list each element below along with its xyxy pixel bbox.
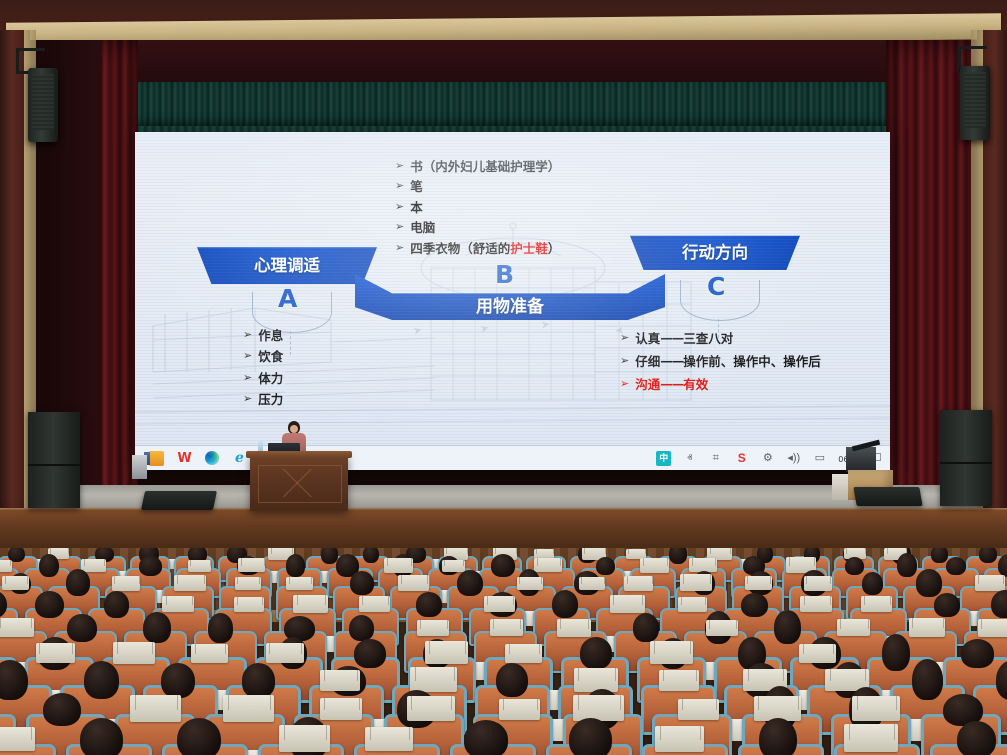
audience-member-head — [912, 659, 943, 700]
audience-member-head — [363, 548, 379, 563]
audience-member-head — [759, 718, 797, 755]
microsoft-edge-icon[interactable] — [205, 451, 219, 465]
list-item-value: 有效 — [683, 374, 708, 393]
nurse-cap — [978, 619, 1007, 637]
nurse-cap — [844, 724, 898, 752]
bullet-arrow-icon: ➢ — [243, 349, 252, 362]
auditorium-seating — [0, 548, 1007, 755]
list-item: ➢ 仔细——操作前、操作中、操作后 — [620, 351, 821, 370]
audience-member-head — [39, 554, 59, 577]
taskbar-pinned-apps: W e — [135, 451, 247, 466]
bullet-arrow-icon: ➢ — [395, 241, 404, 254]
presentation-slide: ➤ ➤ ➤ ➤ ➤ ➤ ➤ ➢ 书（内外妇儿基础护理学） ➢ 笔 ➢ 本 — [135, 132, 890, 470]
list-item: ➢ 体力 — [243, 368, 283, 387]
list-item-label: 饮食 — [258, 346, 283, 365]
nurse-cap — [384, 558, 413, 573]
audience-member-head — [774, 610, 801, 644]
list-item-label: 体力 — [258, 368, 283, 387]
list-item: ➢ 压力 — [243, 389, 283, 408]
audience-member-head — [66, 569, 90, 596]
audience-member-head — [208, 613, 233, 643]
speaker-stack-right — [940, 410, 992, 506]
nurse-cap — [81, 559, 105, 572]
nurse-cap — [800, 596, 832, 612]
section-letter-b: B — [495, 260, 514, 289]
list-item: ➢ 四季衣物（舒适的护士鞋） — [395, 238, 560, 257]
audience-member-head — [350, 571, 375, 595]
bullet-arrow-icon: ➢ — [620, 377, 629, 390]
section-stem-a — [290, 331, 291, 355]
nurse-cap — [293, 595, 328, 613]
nurse-cap — [804, 576, 833, 591]
audience-member-head — [416, 592, 442, 617]
nurse-cap — [286, 577, 313, 591]
bullet-arrow-icon: ➢ — [395, 220, 404, 233]
audience-member-head — [67, 614, 97, 642]
audience-member-head — [496, 663, 528, 697]
nurse-cap — [359, 596, 390, 612]
file-explorer-icon[interactable] — [149, 451, 164, 466]
audience-member-head — [491, 554, 515, 577]
list-item-label: 本 — [410, 197, 423, 216]
list-item: ➢ 电脑 — [395, 217, 560, 236]
network-icon[interactable]: ⌗ — [708, 451, 723, 466]
nurse-cap — [113, 642, 155, 664]
audience-member-head — [84, 661, 119, 699]
nurse-cap — [162, 596, 193, 612]
nurse-cap — [799, 644, 836, 663]
nurse-cap — [112, 576, 141, 591]
nurse-cap — [442, 560, 465, 572]
wps-office-icon[interactable]: W — [177, 451, 192, 466]
volume-icon[interactable]: ◂)) — [786, 451, 801, 466]
slide-right-list: ➢ 认真——三查八对 ➢ 仔细——操作前、操作中、操作后 ➢ 沟通——有效 — [620, 324, 821, 397]
green-curtain — [130, 82, 890, 130]
nurse-cap — [557, 619, 591, 637]
projection-screen: ➤ ➤ ➤ ➤ ➤ ➤ ➤ ➢ 书（内外妇儿基础护理学） ➢ 笔 ➢ 本 — [135, 132, 890, 470]
nurse-cap — [2, 576, 29, 590]
bullet-arrow-icon: ➢ — [620, 331, 629, 344]
audience-member-head — [464, 720, 508, 755]
list-item: ➢ 饮食 — [243, 346, 283, 365]
bullet-arrow-icon: ➢ — [395, 200, 404, 213]
nurse-cap — [678, 699, 719, 720]
nurse-cap — [320, 670, 361, 691]
audience-member-head — [897, 553, 917, 577]
section-letter-a: A — [278, 284, 297, 313]
audience-member-head — [596, 557, 616, 575]
lectern-diamond-inlay — [262, 469, 336, 497]
list-item-key: 沟通 — [635, 374, 660, 393]
audience-member-head — [580, 637, 612, 669]
bullet-arrow-icon: ➢ — [243, 371, 252, 384]
audience-member-head — [457, 570, 483, 596]
nurse-cap — [745, 576, 772, 590]
list-item: ➢ 书（内外妇儿基础护理学） — [395, 156, 560, 175]
audience-member-head — [139, 556, 162, 576]
nurse-cap — [579, 577, 606, 591]
bullet-arrow-icon: ➢ — [620, 354, 629, 367]
nurse-cap — [223, 695, 274, 722]
speaker-stack-left — [28, 412, 80, 508]
speaker-grille — [32, 74, 54, 130]
list-item-highlight: 护士鞋 — [510, 238, 548, 257]
camera-rig — [846, 447, 876, 472]
audience-member-head — [979, 548, 997, 563]
nurse-cap — [417, 620, 449, 637]
nurse-cap — [861, 596, 892, 612]
nurse-cap — [534, 558, 562, 573]
nurse-cap — [235, 577, 261, 591]
nurse-cap — [490, 619, 523, 636]
nurse-cap — [174, 575, 206, 592]
settings-gear-icon[interactable]: ⚙ — [760, 451, 775, 466]
hanging-speaker-left — [28, 68, 58, 142]
battery-icon[interactable]: ▭ — [812, 451, 827, 466]
auditorium-photo: ➤ ➤ ➤ ➤ ➤ ➤ ➤ ➢ 书（内外妇儿基础护理学） ➢ 笔 ➢ 本 — [0, 0, 1007, 755]
audience-member-head — [845, 557, 865, 576]
list-item-label: 压力 — [258, 389, 283, 408]
audience-member-head — [862, 572, 883, 595]
nurse-cap — [191, 644, 228, 663]
list-item-suffix: ） — [548, 238, 561, 257]
list-item-key: 认真 — [635, 328, 660, 347]
nurse-cap — [0, 727, 35, 751]
speaker-grille — [964, 72, 986, 128]
audience-member-head — [143, 612, 171, 643]
bullet-arrow-icon: ➢ — [243, 328, 252, 341]
nurse-cap — [624, 576, 653, 591]
nurse-cap — [610, 595, 645, 613]
nurse-cap — [0, 560, 12, 572]
nurse-cap — [320, 698, 362, 720]
list-item-label: 书（内外妇儿基础护理学） — [410, 156, 560, 175]
bullet-arrow-icon: ➢ — [395, 159, 404, 172]
projector — [132, 455, 147, 479]
list-item-value: 三查八对 — [683, 328, 733, 347]
nurse-cap — [680, 574, 713, 591]
list-item: ➢ 本 — [395, 197, 560, 216]
nurse-cap — [505, 644, 541, 663]
nurse-cap — [234, 597, 264, 612]
audience-member-head — [354, 639, 386, 668]
nurse-cap — [574, 668, 619, 691]
lectern-top — [246, 451, 352, 458]
list-item-label: 电脑 — [410, 217, 435, 236]
list-item-dash: —— — [660, 376, 683, 391]
list-item-label: 四季衣物（舒适的 — [410, 238, 510, 257]
audience-member-head — [957, 721, 996, 755]
audience-member-head — [991, 590, 1007, 619]
audience-member-head — [633, 613, 659, 642]
list-item-value: 操作前、操作中、操作后 — [683, 351, 821, 370]
nurse-cap — [852, 696, 899, 721]
audience-member-head — [104, 591, 129, 618]
audience-member-head — [934, 593, 960, 617]
lectern — [250, 455, 348, 511]
stage-monitor-right — [853, 487, 922, 506]
list-item: ➢ 作息 — [243, 325, 283, 344]
nurse-cap — [659, 670, 699, 691]
nurse-cap — [407, 696, 455, 721]
nurse-cap — [678, 597, 708, 613]
audience-member-head — [741, 593, 768, 617]
audience-member-head — [961, 639, 995, 668]
nurse-cap — [650, 641, 693, 664]
slide-top-list: ➢ 书（内外妇儿基础护理学） ➢ 笔 ➢ 本 ➢ 电脑 ➢ 四季衣物（舒适的 — [395, 154, 560, 258]
internet-explorer-icon[interactable]: e — [232, 451, 247, 466]
nurse-cap — [398, 575, 429, 591]
nurse-cap — [837, 619, 871, 637]
slide-left-list: ➢ 作息 ➢ 饮食 ➢ 体力 ➢ 压力 — [243, 322, 283, 411]
stage-apron — [0, 510, 1007, 548]
nurse-cap — [279, 725, 331, 752]
nurse-cap — [640, 558, 669, 573]
nurse-cap — [909, 618, 946, 637]
list-item: ➢ 笔 — [395, 176, 560, 195]
audience-member-head — [946, 557, 966, 575]
nurse-cap — [975, 575, 1005, 591]
audience-member-head — [552, 590, 579, 619]
security-shield-icon[interactable]: S — [734, 451, 749, 466]
list-item-dash: —— — [660, 330, 683, 345]
stage-monitor-left — [141, 491, 217, 510]
audience-member-head — [916, 569, 943, 597]
hanging-speaker-right — [960, 66, 990, 140]
list-item-key: 仔细 — [635, 351, 660, 370]
nurse-cap — [0, 618, 34, 638]
list-item-label: 笔 — [410, 176, 423, 195]
nurse-cap — [410, 667, 458, 692]
section-ribbon-a: 心理调适 — [197, 244, 377, 284]
list-item-dash: —— — [660, 353, 683, 368]
list-item: ➢ 认真——三查八对 — [620, 328, 821, 347]
presenter-face — [290, 425, 298, 433]
nurse-cap — [425, 641, 468, 663]
nurse-cap — [266, 643, 304, 663]
audience-member-head — [931, 548, 948, 563]
audience-member-head — [242, 663, 275, 697]
list-item-label: 作息 — [258, 325, 283, 344]
nurse-cap — [499, 699, 540, 720]
section-letter-c: C — [707, 272, 725, 301]
audience-member-head — [177, 718, 221, 755]
nurse-cap — [573, 695, 623, 721]
bullet-arrow-icon: ➢ — [243, 392, 252, 405]
audience-member-head — [882, 634, 910, 671]
nurse-cap — [484, 596, 516, 612]
nurse-cap — [238, 558, 265, 572]
audience-member-head — [349, 615, 375, 642]
audience-member-head — [35, 591, 64, 618]
list-item: ➢ 沟通——有效 — [620, 374, 821, 393]
nurse-cap — [130, 695, 181, 722]
show-hidden-icons-caret[interactable]: ⱏ — [682, 451, 697, 466]
nurse-cap — [365, 727, 413, 752]
ime-indicator-icon[interactable]: 中 — [656, 451, 671, 466]
nurse-cap — [188, 560, 212, 572]
audience-member-head — [161, 663, 195, 698]
nurse-cap — [36, 643, 75, 663]
audience-member-head — [669, 548, 687, 564]
nurse-cap — [706, 620, 738, 637]
audience-member-head — [0, 660, 28, 700]
section-ribbon-c: 行动方向 — [630, 232, 800, 270]
audience-member-head — [43, 693, 81, 727]
nurse-cap — [517, 577, 543, 591]
bullet-arrow-icon: ➢ — [395, 179, 404, 192]
audience-member-head — [286, 554, 305, 577]
nurse-cap — [655, 726, 704, 752]
